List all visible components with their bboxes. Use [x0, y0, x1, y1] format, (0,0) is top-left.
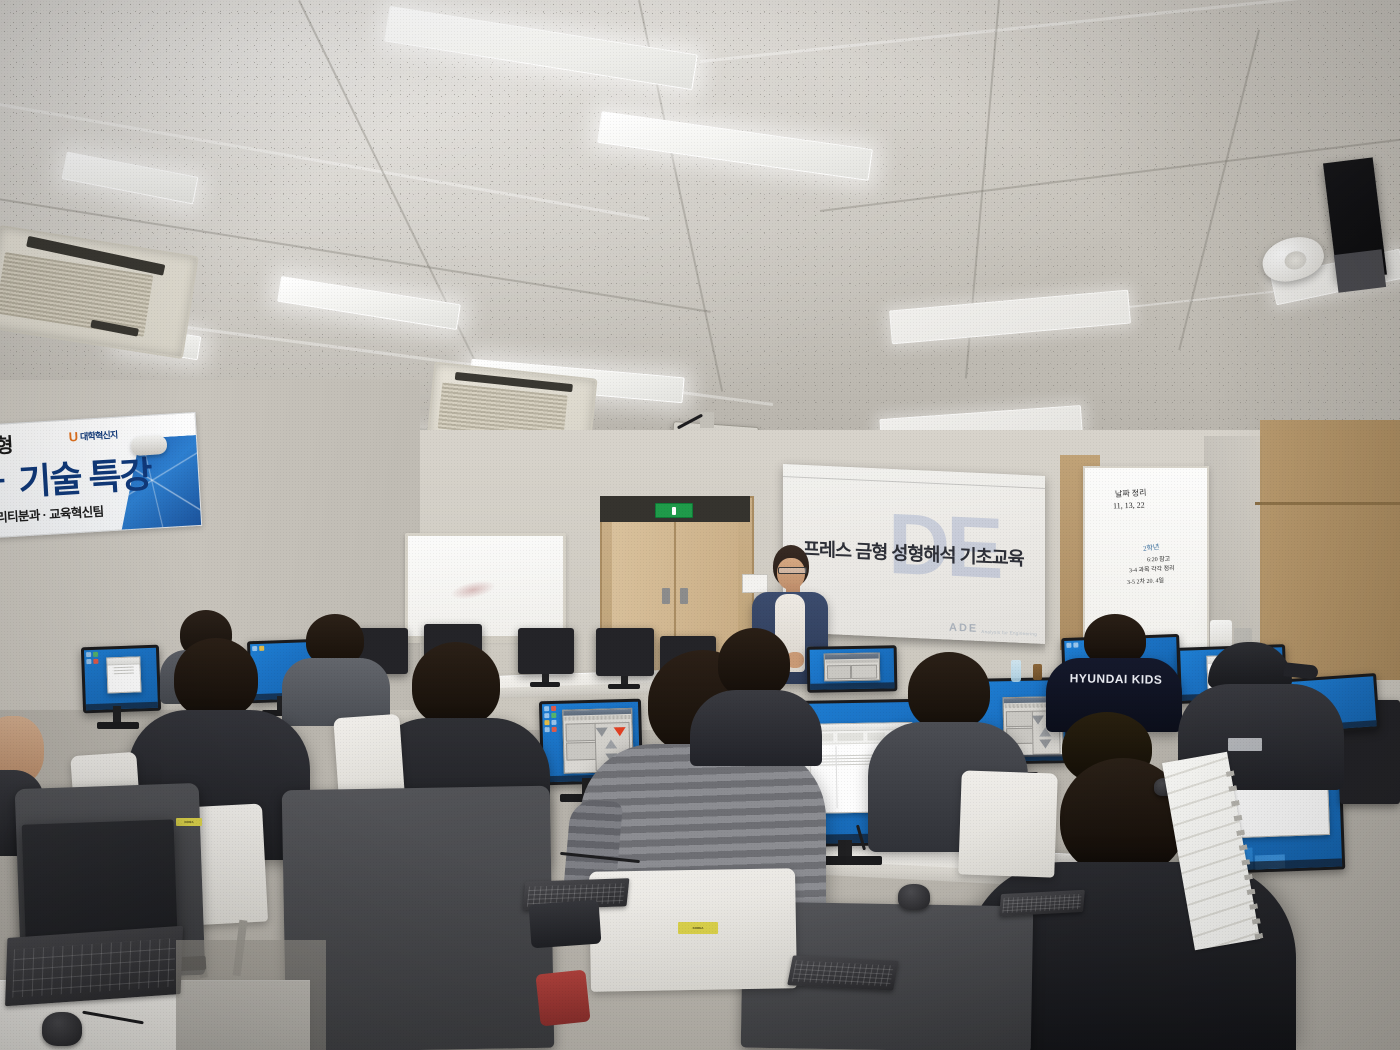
desktop-icon[interactable] — [93, 652, 98, 657]
wall-sign-small — [742, 574, 768, 593]
whiteboard-note-line: 6:20 참고 — [1147, 554, 1171, 564]
cae-parameter-panel[interactable] — [1006, 711, 1034, 727]
desktop-icon[interactable] — [1073, 642, 1078, 647]
monitor-stand — [113, 706, 121, 722]
whiteboard-note-line: 2학년 — [1143, 542, 1160, 554]
student-centerleft-head — [412, 642, 500, 726]
direction-arrow-down-red[interactable] — [614, 727, 626, 736]
cae-parameter-panel[interactable] — [827, 665, 851, 679]
monitor-back-c — [518, 628, 574, 674]
desktop-icon[interactable] — [544, 706, 549, 711]
desktop-icon[interactable] — [544, 713, 549, 718]
door-handle[interactable] — [680, 588, 688, 604]
mouse-foreground[interactable] — [42, 1012, 82, 1046]
student-right-body — [690, 690, 822, 766]
monitor-screen[interactable] — [810, 648, 895, 689]
keyboard-mid-center[interactable] — [787, 955, 899, 990]
desk-item-black[interactable] — [529, 900, 602, 949]
mouse-mid-center[interactable] — [898, 884, 930, 910]
wall-panel-lower — [1334, 249, 1386, 293]
event-banner: 형 ㅏ 기술 특강 빌리티분과 · 교육혁신팀 U 대학혁신지 — [0, 412, 202, 538]
right-wall-wood-panel — [1260, 420, 1400, 680]
shirt-text: HYUNDAI KIDS — [1056, 671, 1176, 687]
desktop-icons — [86, 652, 98, 664]
cae-viewport[interactable] — [851, 665, 877, 679]
logo-text: 대학혁신지 — [80, 428, 118, 443]
monitor-back-d — [596, 628, 654, 676]
desktop-icon[interactable] — [252, 646, 257, 651]
chair-center-left[interactable] — [333, 714, 404, 798]
monitor-back-left — [81, 645, 161, 714]
cae-parameter-panel[interactable] — [566, 723, 596, 742]
monitor-base — [530, 682, 560, 687]
whiteboard-note-line: 3-4 과목 각각 정리 — [1129, 563, 1175, 574]
student-right-head — [718, 628, 790, 698]
desktop-icon[interactable] — [544, 720, 549, 725]
shirt-logo-patch — [1228, 738, 1262, 751]
monitor-base — [608, 684, 640, 689]
monitor-stand — [621, 676, 628, 684]
right-wall-wood-seam — [1255, 502, 1400, 505]
ade-logo-tagline: Analysis for Engineering — [981, 629, 1037, 638]
window-titlebar[interactable] — [107, 657, 139, 665]
taskbar[interactable] — [86, 702, 158, 711]
monitor-base — [97, 722, 139, 729]
window-content-line — [114, 670, 134, 672]
direction-arrow-down-gray[interactable] — [596, 728, 608, 737]
water-bottle[interactable] — [1011, 660, 1021, 682]
direction-arrow-up-gray[interactable] — [605, 739, 617, 748]
banner-mounted-sensor — [130, 435, 167, 456]
ribbon-group[interactable] — [837, 733, 863, 741]
whiteboard-smudge — [449, 577, 497, 602]
desktop-icon[interactable] — [86, 659, 91, 664]
whiteboard-note-line: 날짜 정리 — [1115, 487, 1147, 500]
desktop-icon[interactable] — [551, 713, 556, 718]
ade-logo: ADE Analysis for Engineering — [949, 622, 1037, 638]
desktop-icons — [544, 706, 557, 732]
window-toolbar[interactable] — [826, 660, 878, 664]
chair-brand-label: KOREA — [176, 818, 202, 826]
monitor-stand — [542, 674, 549, 682]
whiteboard-note-line: 11, 13, 22 — [1113, 500, 1145, 510]
cae-parameter-panel[interactable] — [566, 742, 596, 761]
floor-area — [176, 940, 326, 1050]
desktop-icon[interactable] — [551, 720, 556, 725]
desktop-icon[interactable] — [545, 727, 550, 732]
university-innovation-logo: U 대학혁신지 — [68, 428, 117, 444]
whiteboard-note-line: 3-5 2차 20. 4일 — [1127, 575, 1164, 586]
window-titlebar[interactable] — [825, 654, 879, 660]
student-left-head — [174, 638, 258, 718]
desktop-icon[interactable] — [1066, 643, 1071, 648]
desktop-icons — [252, 646, 264, 651]
window-content-line — [114, 667, 134, 669]
presenter-glasses — [778, 567, 807, 574]
direction-arrow-down-gray[interactable] — [1039, 739, 1051, 748]
speaker-cone — [1282, 249, 1308, 272]
cup[interactable] — [1033, 664, 1042, 680]
cae-solver-window[interactable] — [824, 653, 880, 682]
chair-red-cushion — [535, 970, 590, 1027]
desktop-icon[interactable] — [93, 659, 98, 664]
desktop-icon[interactable] — [86, 652, 91, 657]
window-content-line — [114, 673, 134, 675]
exit-figure-icon — [672, 507, 676, 515]
taskbar[interactable] — [810, 682, 894, 689]
chair-right-mid[interactable] — [958, 770, 1058, 877]
keyboard-right[interactable] — [999, 890, 1085, 917]
desktop-icons — [1066, 642, 1078, 647]
direction-arrow-down-gray[interactable] — [1032, 716, 1044, 725]
chair-brand-label: KOREA — [678, 922, 718, 934]
monitor-row2-center — [807, 645, 898, 693]
classroom-photograph: 형 ㅏ 기술 특강 빌리티분과 · 교육혁신팀 U 대학혁신지 DE 프레스 금… — [0, 0, 1400, 1050]
logo-mark-u: U — [68, 430, 78, 444]
file-explorer-window[interactable] — [106, 656, 141, 693]
door-handle[interactable] — [662, 588, 670, 604]
ade-logo-text: ADE — [949, 622, 978, 635]
desktop-icon[interactable] — [259, 646, 264, 651]
window-toolbar[interactable] — [564, 715, 630, 721]
emergency-exit-sign — [655, 503, 693, 518]
keyboard-foreground[interactable] — [5, 926, 183, 1007]
desktop-icon[interactable] — [552, 727, 557, 732]
monitor-screen[interactable] — [84, 648, 158, 710]
student-rightmid-head — [908, 652, 990, 730]
slide-title: 프레스 금형 성형해석 기초교육 — [803, 535, 1043, 572]
desktop-icon[interactable] — [551, 706, 556, 711]
banner-title: ㅏ 기술 특강 — [0, 446, 152, 508]
